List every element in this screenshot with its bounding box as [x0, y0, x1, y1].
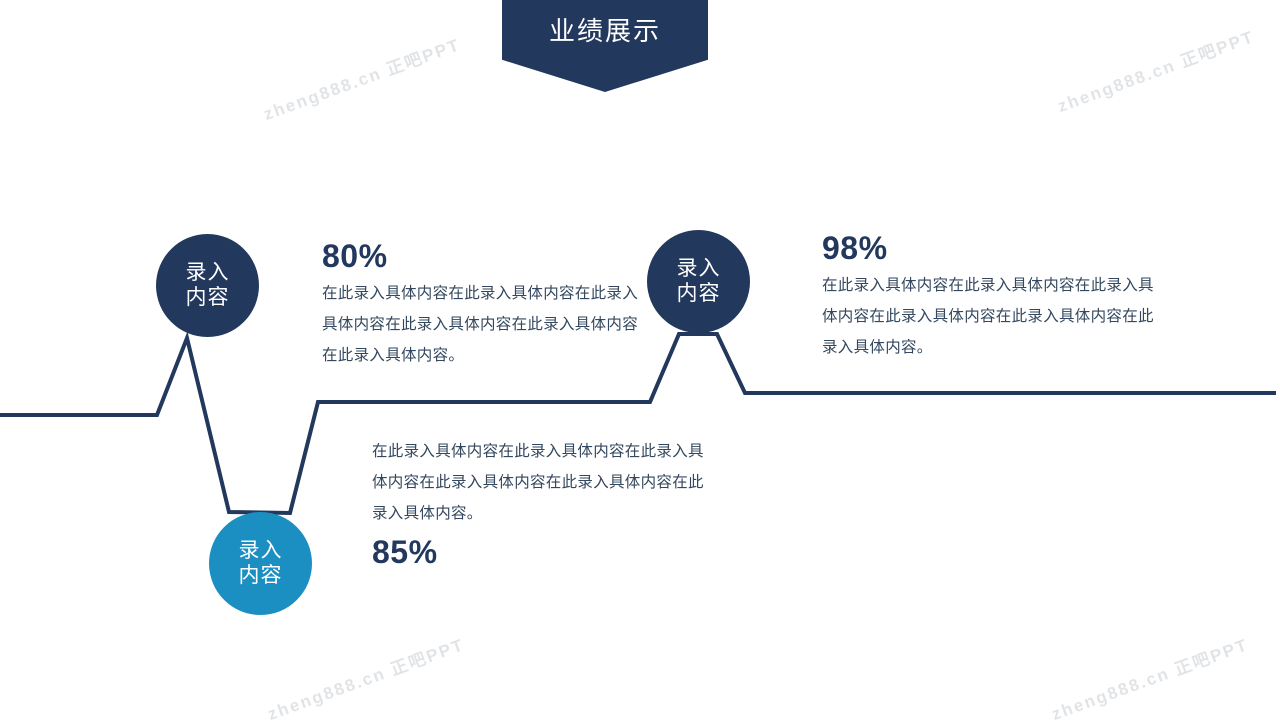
watermark-bottom-right: zheng888.cn 正吧PPT [1047, 630, 1251, 720]
info-body-3: 在此录入具体内容在此录入具体内容在此录入具体内容在此录入具体内容在此录入具体内容… [372, 436, 708, 529]
info-block-2: 98% 在此录入具体内容在此录入具体内容在此录入具体内容在此录入具体内容在此录入… [822, 231, 1157, 363]
percent-value-2: 98% [822, 231, 1157, 266]
node-circle-1-label-line2: 内容 [186, 286, 230, 310]
node-circle-1-label-line1: 录入 [186, 261, 230, 285]
watermark-bottom-left: zheng888.cn 正吧PPT [263, 630, 467, 720]
info-body-1: 在此录入具体内容在此录入具体内容在此录入具体内容在此录入具体内容在此录入具体内容… [322, 278, 652, 371]
page-title-banner: 业绩展示 [502, 0, 708, 92]
slide-canvas: 业绩展示 录入 内容 录入 内容 录入 内容 80% 在此录入具体内容在此录入具… [0, 0, 1280, 720]
watermark-top-right: zheng888.cn 正吧PPT [1053, 22, 1257, 117]
node-circle-2-label-line1: 录入 [239, 539, 283, 563]
info-block-3: 在此录入具体内容在此录入具体内容在此录入具体内容在此录入具体内容在此录入具体内容… [372, 436, 708, 570]
node-circle-2[interactable]: 录入 内容 [209, 512, 312, 615]
node-circle-1[interactable]: 录入 内容 [156, 234, 259, 337]
page-title: 业绩展示 [549, 18, 661, 44]
info-body-2: 在此录入具体内容在此录入具体内容在此录入具体内容在此录入具体内容在此录入具体内容… [822, 270, 1157, 363]
percent-value-3: 85% [372, 535, 708, 570]
info-block-1: 80% 在此录入具体内容在此录入具体内容在此录入具体内容在此录入具体内容在此录入… [322, 239, 652, 371]
watermark-top-left: zheng888.cn 正吧PPT [259, 30, 463, 125]
node-circle-2-label-line2: 内容 [239, 564, 283, 588]
percent-value-1: 80% [322, 239, 652, 274]
node-circle-3-label-line1: 录入 [677, 257, 721, 281]
node-circle-3[interactable]: 录入 内容 [647, 230, 750, 333]
node-circle-3-label-line2: 内容 [677, 282, 721, 306]
